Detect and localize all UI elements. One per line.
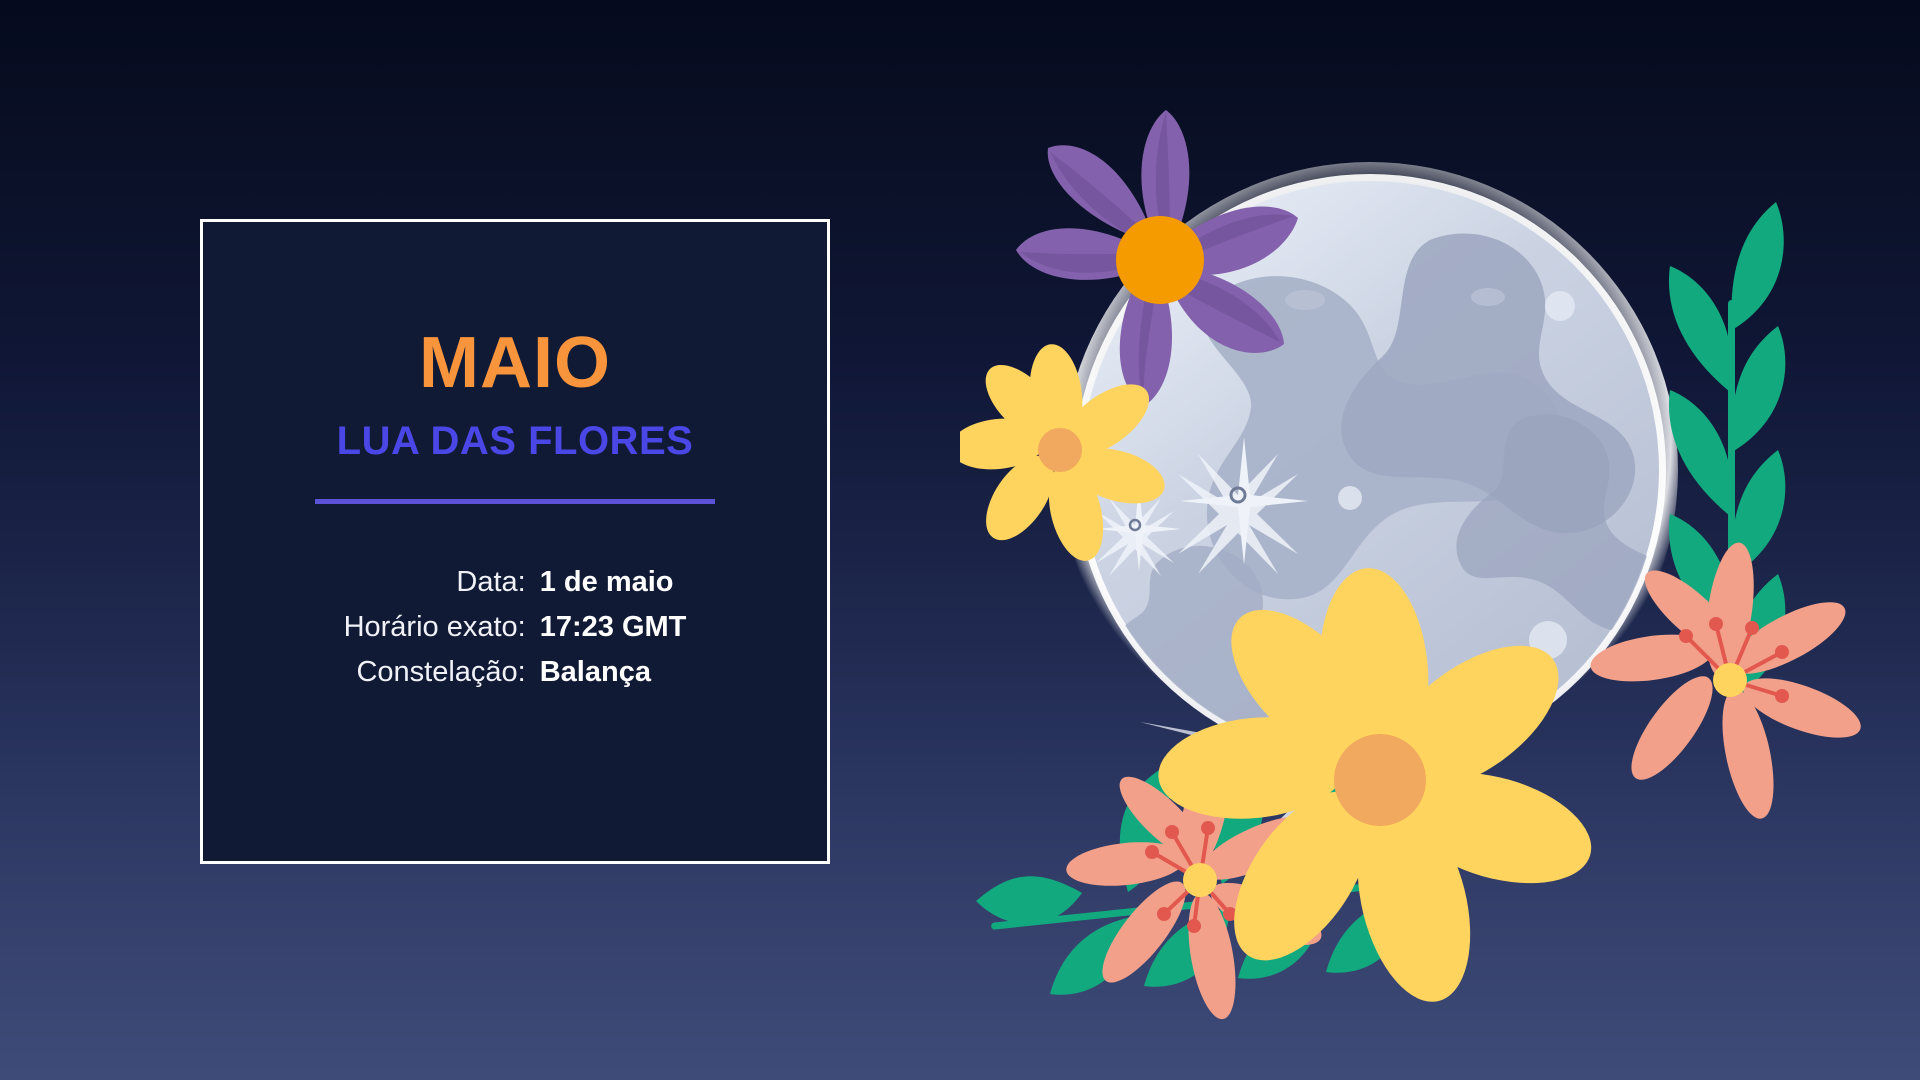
- detail-list: Data: 1 de maio Horário exato: 17:23 GMT…: [344, 566, 687, 689]
- card-content: MAIO LUA DAS FLORES Data: 1 de maio Horá…: [203, 222, 827, 861]
- detail-value-horario: 17:23 GMT: [540, 611, 687, 644]
- detail-label-horario: Horário exato:: [344, 611, 526, 644]
- moon-and-flowers-illustration: [960, 0, 1920, 1080]
- detail-value-data: 1 de maio: [540, 566, 687, 599]
- info-card: MAIO LUA DAS FLORES Data: 1 de maio Horá…: [200, 219, 830, 864]
- detail-label-constelacao: Constelação:: [344, 656, 526, 689]
- detail-value-constelacao: Balança: [540, 656, 687, 689]
- moon-name-subtitle: LUA DAS FLORES: [337, 421, 694, 461]
- month-title: MAIO: [419, 327, 611, 399]
- divider-rule: [315, 499, 715, 504]
- detail-label-data: Data:: [344, 566, 526, 599]
